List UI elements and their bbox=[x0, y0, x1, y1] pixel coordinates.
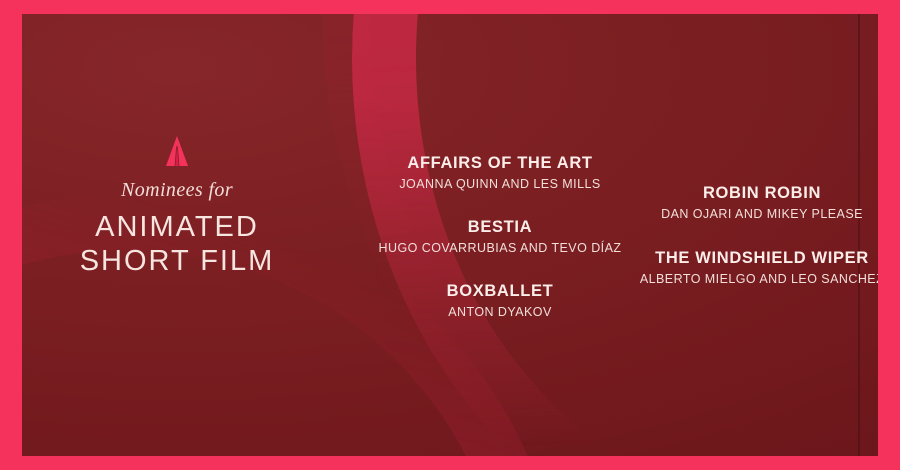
nominee-item[interactable]: BOXBALLET ANTON DYAKOV bbox=[280, 282, 720, 319]
nominee-title: THE WINDSHIELD WIPER bbox=[542, 249, 878, 268]
nominee-people: ALBERTO MIELGO AND LEO SANCHEZ bbox=[542, 272, 878, 286]
nominee-item[interactable]: THE WINDSHIELD WIPER ALBERTO MIELGO AND … bbox=[542, 249, 878, 286]
nominee-title: AFFAIRS OF THE ART bbox=[280, 154, 720, 173]
nominees-list: AFFAIRS OF THE ART JOANNA QUINN AND LES … bbox=[22, 14, 878, 456]
nominee-title: ROBIN ROBIN bbox=[542, 184, 878, 203]
nominee-item[interactable]: ROBIN ROBIN DAN OJARI AND MIKEY PLEASE bbox=[542, 184, 878, 221]
oscars-nominees-slate: Nominees for ANIMATED SHORT FILM AFFAIRS… bbox=[0, 0, 900, 470]
nominee-people: DAN OJARI AND MIKEY PLEASE bbox=[542, 207, 878, 221]
slate-stage: Nominees for ANIMATED SHORT FILM AFFAIRS… bbox=[22, 14, 878, 456]
nominee-people: ANTON DYAKOV bbox=[280, 305, 720, 319]
